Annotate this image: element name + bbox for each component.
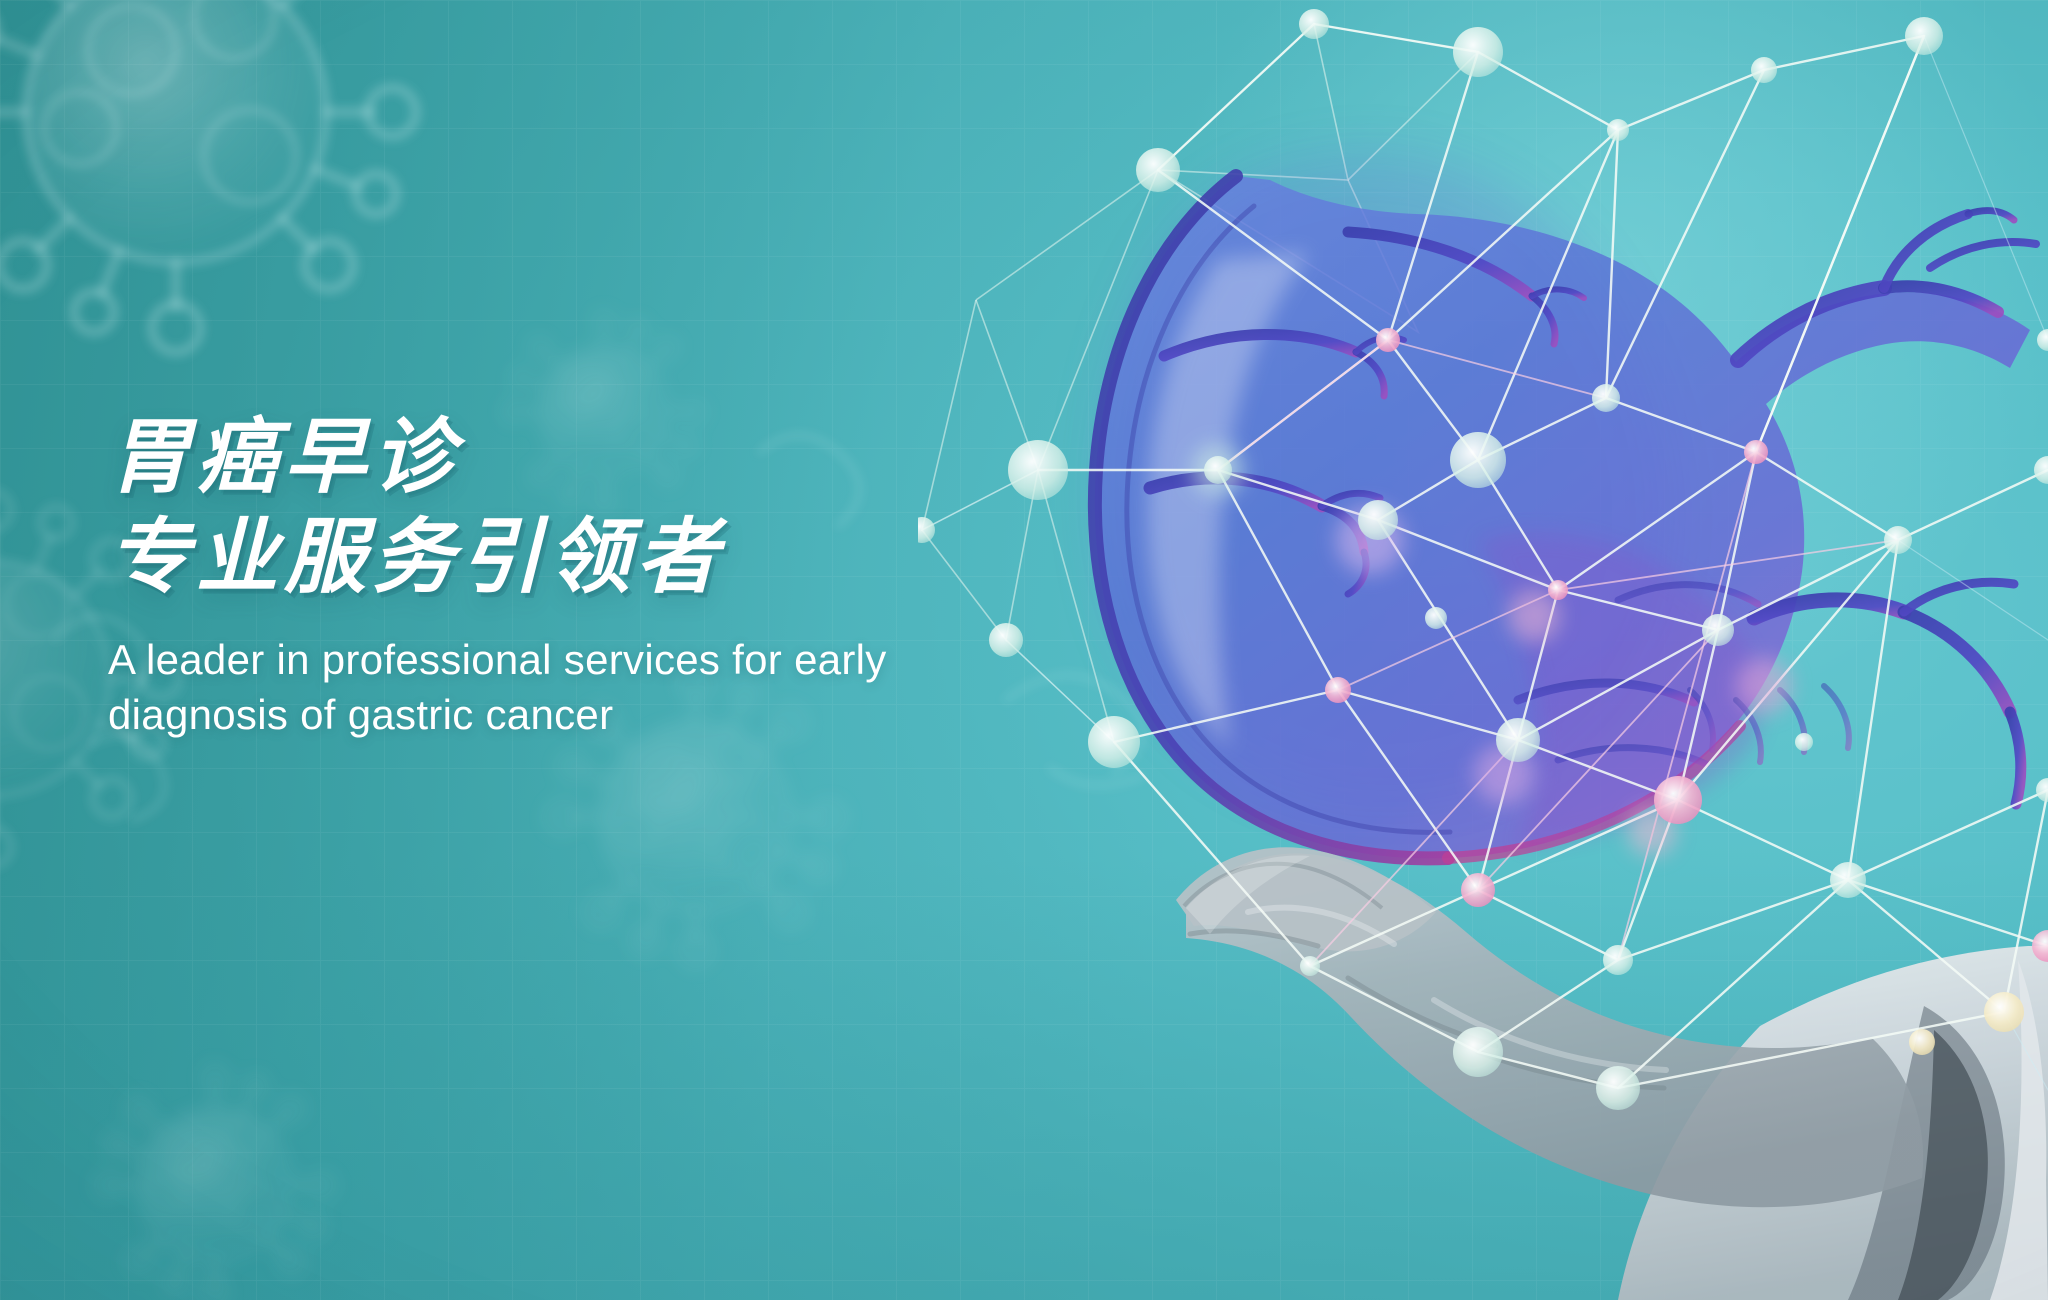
background-vignette: [0, 0, 2048, 1300]
banner-stage: 胃癌早诊 专业服务引领者 A leader in professional se…: [0, 0, 2048, 1300]
